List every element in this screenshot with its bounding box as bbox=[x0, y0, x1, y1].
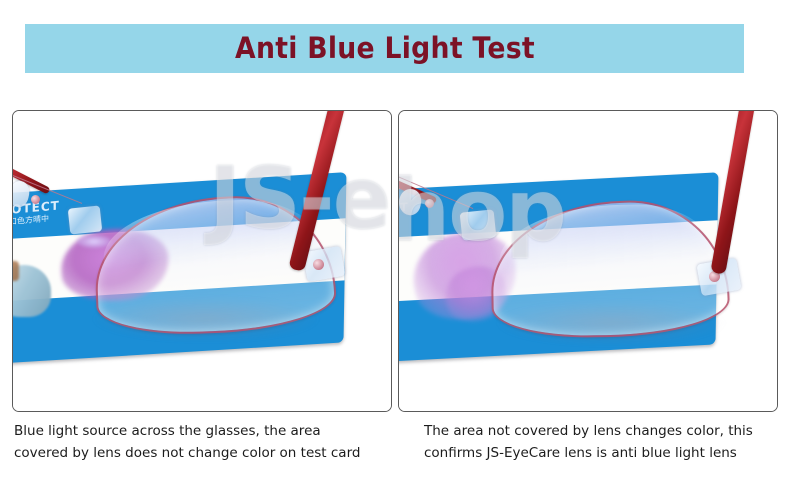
caption-left-line-1: Blue light source across the glasses, th… bbox=[14, 420, 394, 442]
hinge-right-left-panel bbox=[313, 259, 324, 270]
caption-left: Blue light source across the glasses, th… bbox=[14, 420, 394, 464]
bridge-jewel-left bbox=[68, 205, 103, 234]
bridge-jewel-right-panel bbox=[460, 209, 497, 240]
photo-panel-right: CT 中 hop bbox=[398, 110, 778, 412]
photo-right: CT 中 hop bbox=[399, 111, 777, 411]
hinge-left bbox=[31, 195, 40, 204]
bottle-cap-left bbox=[13, 261, 19, 281]
fluorescent-hotspot-left bbox=[77, 235, 111, 248]
caption-right: The area not covered by lens changes col… bbox=[424, 420, 790, 464]
photo-left: ROTECT 方口色方晴中 bbox=[13, 111, 391, 411]
temple-arm-right-side-right-panel bbox=[710, 111, 762, 275]
hinge-left-right-panel bbox=[425, 199, 434, 208]
caption-right-line-2: confirms JS-EyeCare lens is anti blue li… bbox=[424, 442, 790, 464]
comparison-panels: ROTECT 方口色方晴中 bbox=[0, 110, 790, 412]
captions-row: Blue light source across the glasses, th… bbox=[0, 420, 790, 489]
caption-left-line-2: covered by lens does not change color on… bbox=[14, 442, 394, 464]
caption-right-line-1: The area not covered by lens changes col… bbox=[424, 420, 790, 442]
page-title: Anti Blue Light Test bbox=[235, 34, 535, 63]
photo-panel-left: ROTECT 方口色方晴中 bbox=[12, 110, 392, 412]
header-banner: Anti Blue Light Test bbox=[25, 24, 744, 73]
